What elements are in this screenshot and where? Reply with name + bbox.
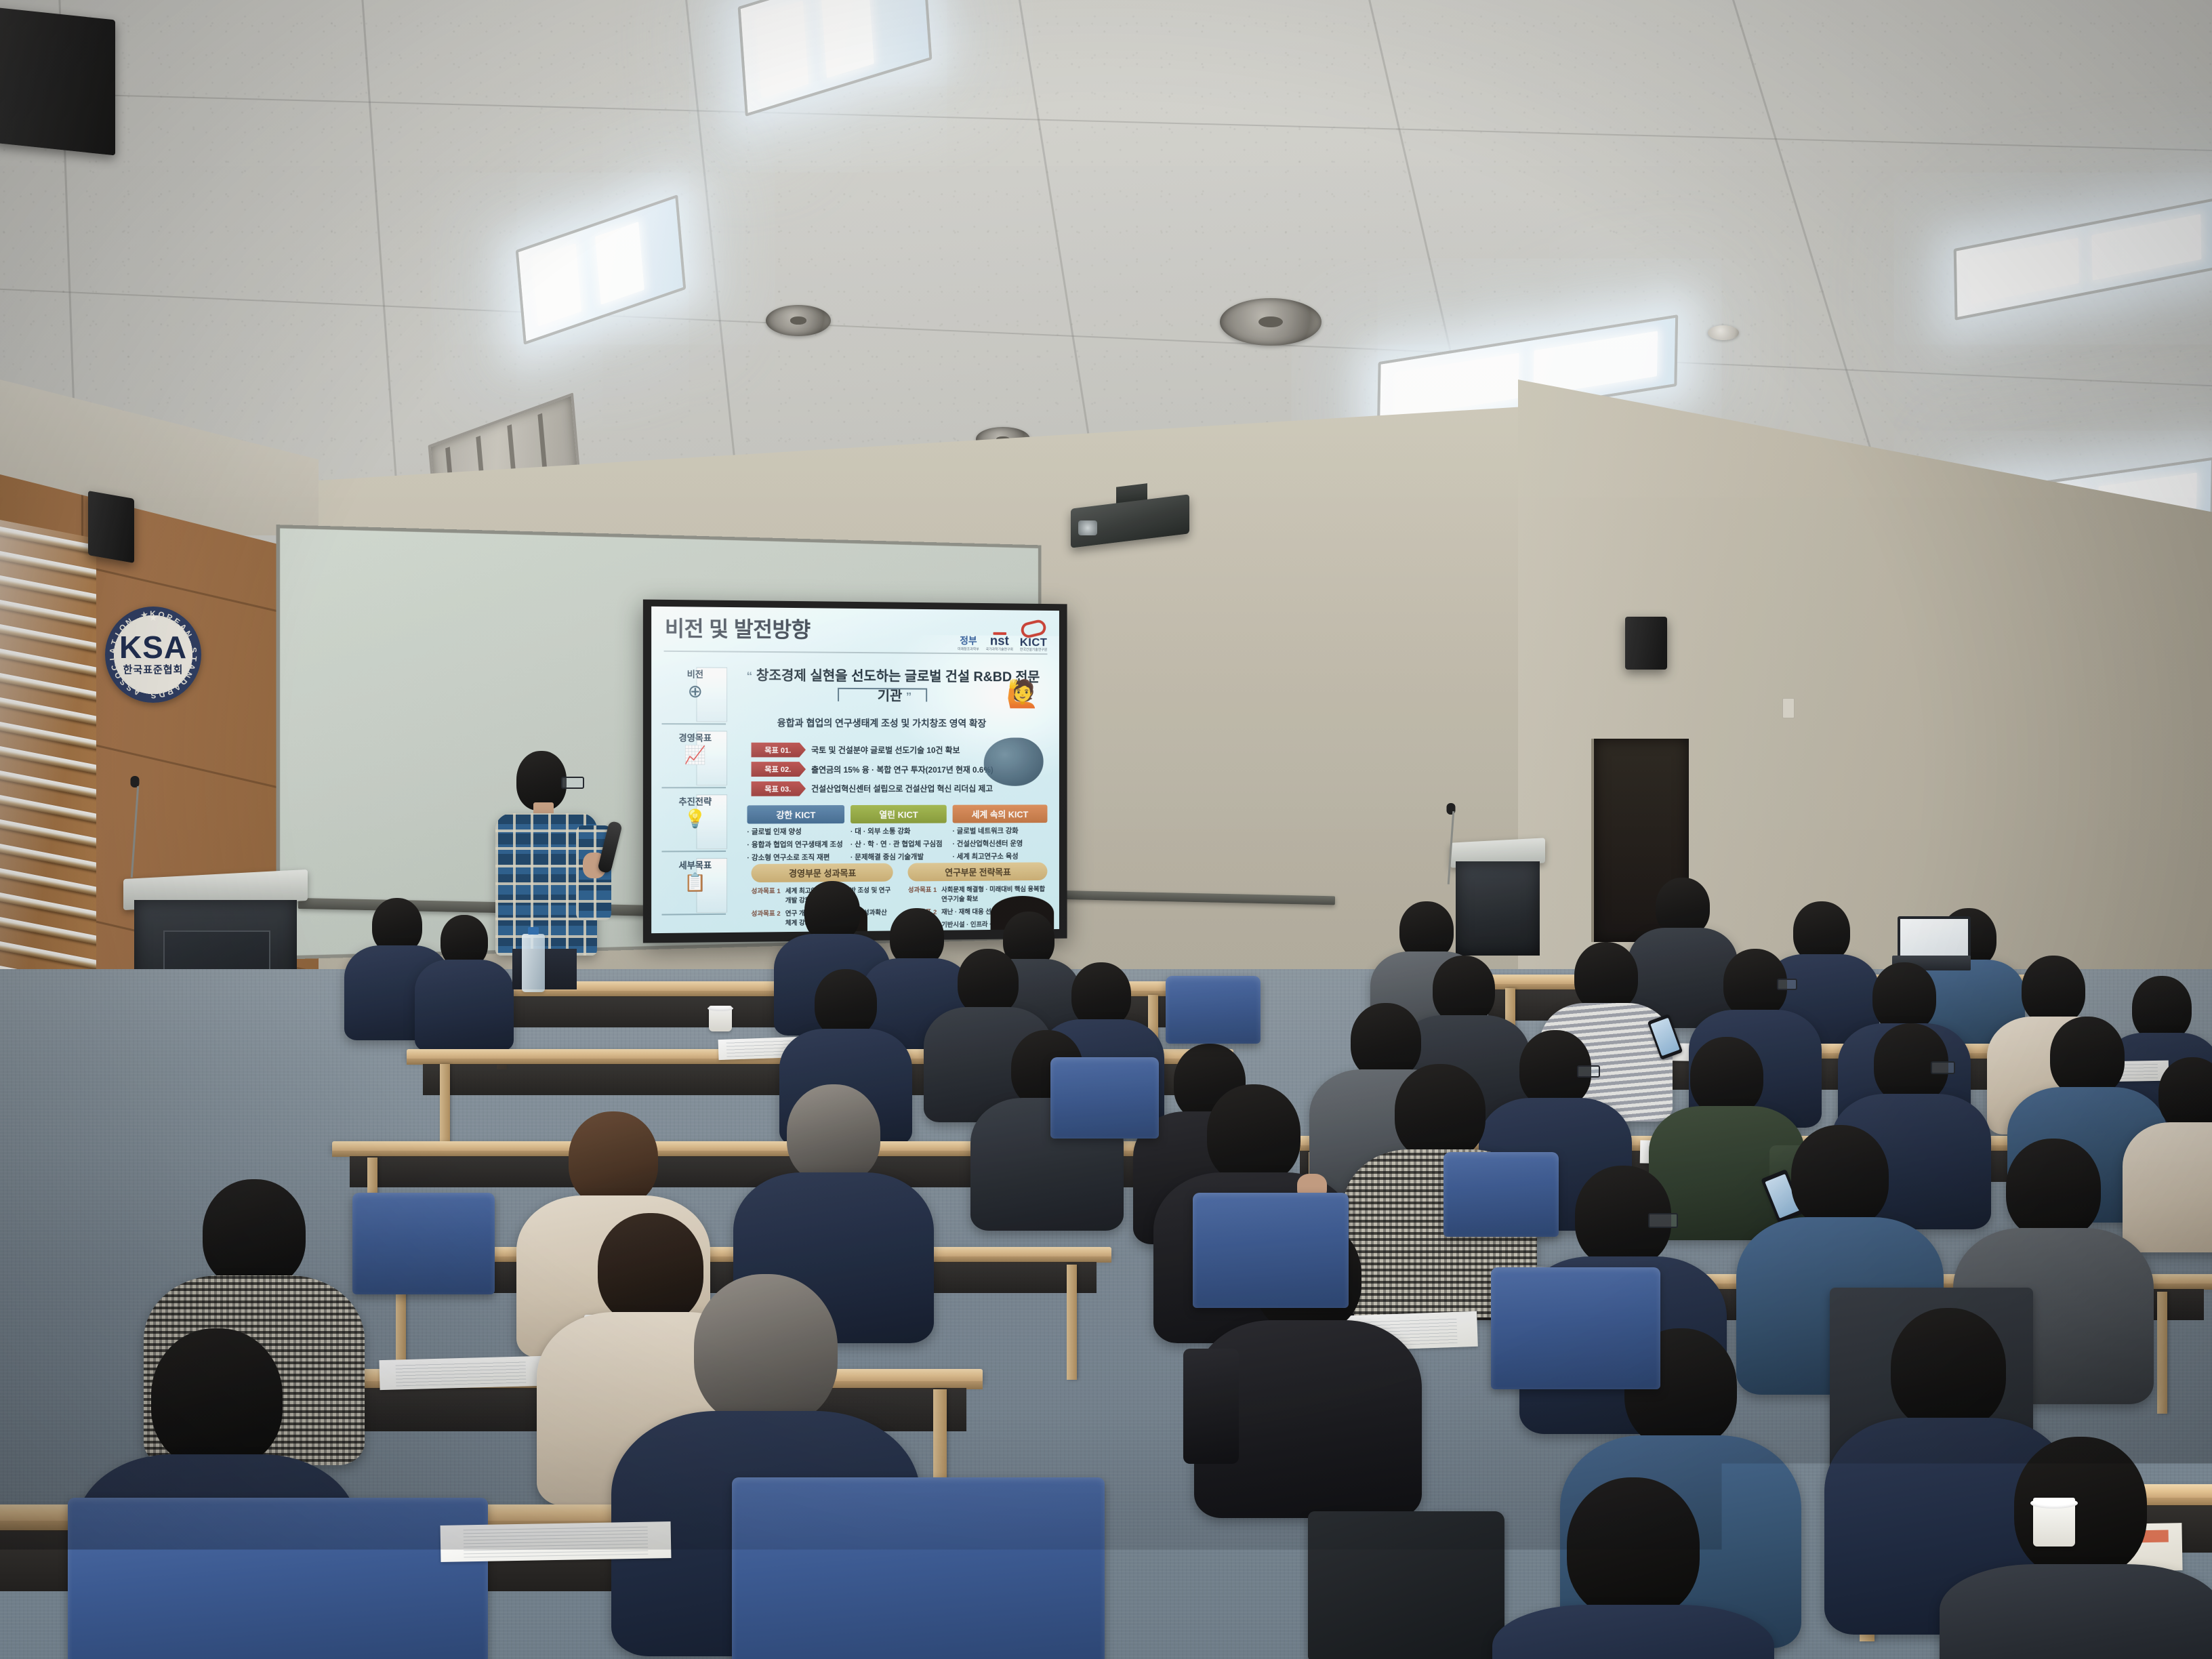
window-blinds[interactable] [0, 518, 96, 1026]
nst-sub: 국가과학기술연구회 [986, 647, 1013, 652]
gov-emblem-sub: 미래창조과학부 [958, 647, 979, 652]
ksa-acronym: KSA [119, 633, 187, 663]
strategy-item: · 건설산업혁신센터 운영 [952, 838, 1047, 849]
eyeglasses-icon [1648, 1213, 1678, 1228]
light-switch[interactable] [1782, 698, 1795, 718]
gov-emblem-logo: 정부 미래창조과학부 [958, 636, 979, 652]
person-illustration-icon: 🙋 [1006, 680, 1036, 721]
chair[interactable] [1050, 1057, 1159, 1139]
ksa-ring-letter: ★ [140, 609, 149, 620]
chair[interactable] [68, 1498, 488, 1659]
microphone-stand[interactable] [1437, 803, 1465, 884]
arm [1183, 1349, 1239, 1464]
kict-logo: KICT 한국건설기술연구원 [1020, 621, 1048, 653]
handout-paper[interactable] [441, 1521, 672, 1562]
goal-tag: 목표 01. [751, 742, 806, 757]
ksa-ring-letter: D [157, 689, 165, 700]
ksa-ring-letter: S [188, 647, 199, 654]
gov-emblem-mark: 정부 [960, 636, 977, 646]
nst-mark: nst [990, 636, 1009, 647]
seminar-room-photo: ★ KSA 한국표준협회 KOREAN STANDARDS ASSOCIATIO… [0, 0, 2212, 1659]
slide-vision-subtitle: 융합과 협업의 연구생태계 조성 및 가치창조 영역 확장 [751, 716, 1011, 731]
strategy-column: 세계 속의 KICT · 글로벌 네트워크 강화 · 건설산업혁신센터 운영 ·… [952, 805, 1047, 862]
strategy-column: 열린 KICT · 대 · 외부 소통 강화 · 산 · 학 · 연 · 관 협… [851, 805, 947, 862]
strategy-item: · 대 · 외부 소통 강화 [851, 826, 947, 837]
chair[interactable] [1491, 1267, 1660, 1389]
slide-step-rail: 비전 ⊕ 경영목표 📈 추진전략 💡 세부목표 📋 [662, 662, 729, 917]
ksa-ring-letter: T [188, 655, 199, 662]
slide-title: 비전 및 발전방향 [665, 611, 811, 643]
strategy-item: · 세계 최고연구소 육성 [952, 851, 1047, 862]
ksa-emblem: ★ KSA 한국표준협회 KOREAN STANDARDS ASSOCIATIO… [105, 607, 201, 703]
quote-open-icon: “ [747, 670, 753, 682]
slide-step-vision: 비전 ⊕ [662, 667, 729, 700]
goal-text: 국토 및 건설분야 글로벌 선도기술 10건 확보 [811, 744, 960, 756]
nst-logo: nst 국가과학기술연구회 [986, 632, 1013, 652]
chair[interactable] [732, 1477, 1105, 1659]
goal-text: 건설산업혁신센터 설립으로 건설산업 혁신 리더십 제고 [811, 783, 993, 794]
paper-cup[interactable] [2033, 1498, 2075, 1547]
strategy-header: 강한 KICT [747, 805, 844, 824]
eyeglasses-icon [1577, 1065, 1600, 1078]
ceiling-speaker [1220, 298, 1322, 346]
strategy-column: 강한 KICT · 글로벌 인재 양성 · 융합과 협업의 연구생태계 조성 ·… [747, 805, 844, 863]
slide-goal-row: 목표 03. 건설산업혁신센터 설립으로 건설산업 혁신 리더십 제고 [751, 781, 1003, 796]
eyeglasses-icon [1777, 979, 1797, 990]
chair[interactable] [1166, 976, 1261, 1044]
objective-key: 성과목표 1 [908, 884, 937, 903]
slide-logo-group: 정부 미래창조과학부 nst 국가과학기술연구회 KICT 한국건설기술연구원 [958, 621, 1047, 653]
wall-speaker [1625, 617, 1667, 670]
backpack [1308, 1511, 1504, 1659]
projector-lens [1078, 520, 1097, 535]
goal-tag: 목표 02. [751, 762, 806, 777]
globe-icon: ⊕ [688, 682, 703, 700]
audience-person [1938, 1437, 2212, 1659]
microphone-stand[interactable] [121, 776, 149, 878]
slide-goal-row: 목표 02. 출연금의 15% 융 · 복합 연구 투자(2017년 현재 0.… [751, 762, 1003, 777]
strategy-header: 열린 KICT [851, 805, 947, 823]
chair[interactable] [1443, 1152, 1559, 1237]
wall-speaker [88, 491, 134, 563]
audience-person [1491, 1477, 1776, 1659]
strategy-item: · 융합과 협업의 연구생태계 조성 [747, 839, 844, 850]
bottle-cap [528, 927, 539, 935]
slide-step-label: 추진전략 [678, 794, 712, 807]
rock-illustration [984, 738, 1044, 786]
star-icon: ★ [149, 612, 158, 623]
ksa-ring-letter: A [131, 686, 142, 697]
ksa-ring-letter: A [108, 647, 118, 654]
slide-goal-row: 목표 01. 국토 및 건설분야 글로벌 선도기술 10건 확보 [751, 742, 1003, 757]
growth-chart-icon: 📈 [684, 746, 706, 764]
presenter [485, 751, 607, 988]
slide-step-label: 세부목표 [678, 858, 712, 871]
eyeglasses-icon [1931, 1061, 1955, 1074]
slide-step-strategy: 추진전략 💡 [662, 794, 729, 827]
slide-step-label: 경영목표 [678, 731, 712, 743]
ksa-ring-letter: T [109, 638, 120, 646]
eyeglasses-icon [561, 777, 584, 789]
strategy-header: 세계 속의 KICT [952, 805, 1047, 823]
presenter-head [516, 751, 567, 811]
strategy-item: · 강소형 연구소로 조직 재편 [747, 852, 844, 863]
slide-step-mgmt-goal: 경영목표 📈 [662, 731, 729, 764]
kict-sub: 한국건설기술연구원 [1020, 647, 1047, 652]
goal-text: 출연금의 15% 융 · 복합 연구 투자(2017년 현재 0.6%) [811, 764, 994, 775]
strategy-item: · 글로벌 네트워크 강화 [952, 825, 1047, 836]
slide-strategy-columns: 강한 KICT · 글로벌 인재 양성 · 융합과 협업의 연구생태계 조성 ·… [747, 805, 1047, 863]
slide-step-label: 비전 [687, 668, 703, 680]
smoke-detector [1708, 325, 1739, 340]
chair[interactable] [1193, 1193, 1349, 1308]
mic-pole [131, 786, 139, 878]
objective-header: 연구부문 전략목표 [908, 862, 1047, 881]
wall-speaker [0, 7, 115, 156]
strategy-item: · 문제해결 중심 기술개발 [851, 852, 947, 863]
lightbulb-icon: 💡 [684, 810, 706, 827]
strategy-item: · 글로벌 인재 양성 [747, 826, 844, 837]
ksa-korean-name: 한국표준협회 [123, 662, 184, 676]
kict-mark: KICT [1020, 637, 1048, 647]
strategy-item: · 산 · 학 · 연 · 관 협업체 구심점 [851, 839, 947, 850]
water-bottle[interactable] [522, 934, 545, 992]
slide-step-detail-goal: 세부목표 📋 [662, 858, 729, 891]
mic-pole [1448, 811, 1455, 884]
paper-cup[interactable] [709, 1006, 732, 1031]
objective-header: 경영부문 성과목표 [751, 863, 893, 882]
handout-paper[interactable] [379, 1356, 542, 1390]
clipboard-check-icon: 📋 [684, 873, 706, 891]
arrow-fork-icon [838, 687, 927, 715]
ceiling-projector [1071, 501, 1189, 541]
goal-tag: 목표 03. [751, 781, 806, 796]
ksa-ring-letter: I [108, 657, 117, 661]
ceiling-speaker [766, 305, 831, 336]
chair[interactable] [352, 1193, 495, 1294]
ksa-ring-letter: S [150, 691, 156, 700]
